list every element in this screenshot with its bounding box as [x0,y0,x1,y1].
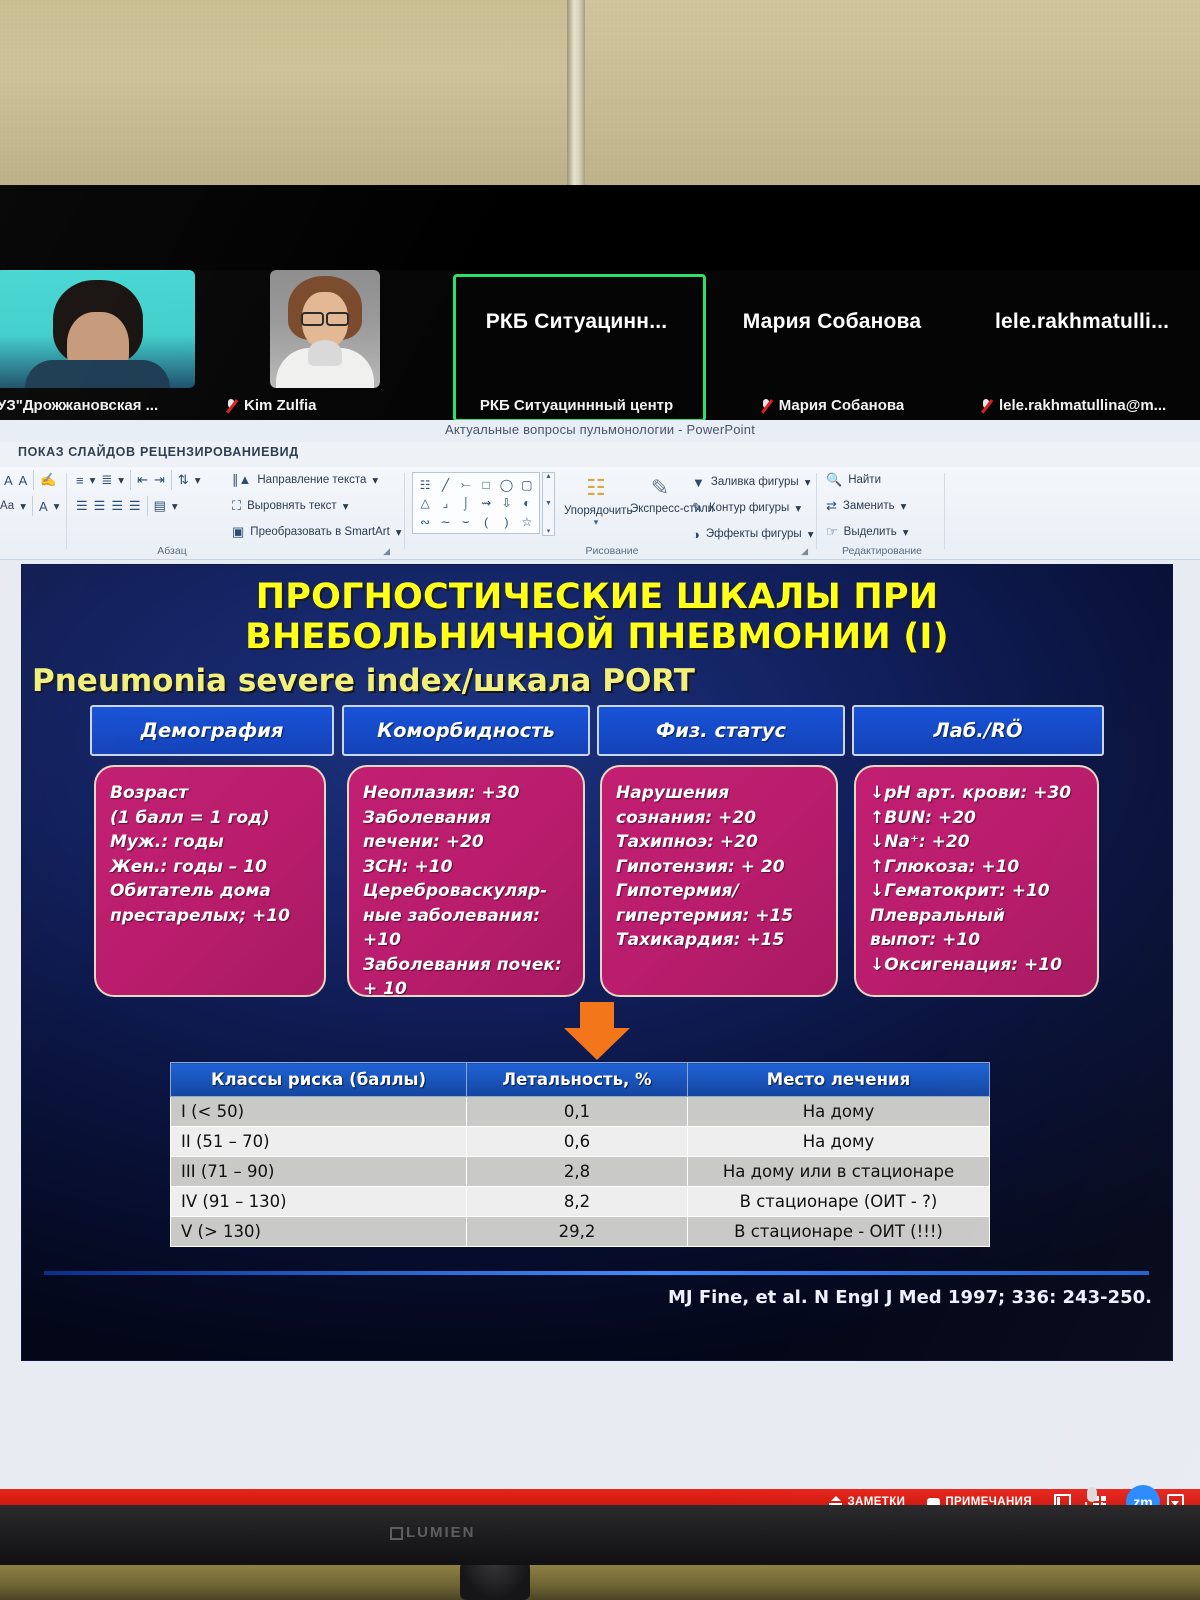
find-label[interactable]: Найти [848,474,881,486]
line-spacing-icon[interactable]: ⇅ [178,472,189,488]
star-shape-icon[interactable]: ☆ [517,512,537,531]
participant-name: lele.rakhmatullina@m... [999,397,1166,414]
align-left-icon[interactable]: ☰ [76,498,88,514]
desk-surface [0,1565,1200,1600]
align-text-label[interactable]: Выровнять текст [247,500,337,512]
table-row: I (< 50) 0,1 На дому [171,1097,990,1127]
cell-mortality: 29,2 [467,1217,688,1247]
char-spacing-icon[interactable]: Аа [0,500,14,512]
cell-mortality: 2,8 [467,1157,688,1187]
participant-tile[interactable]: УЗ"Дрожжановская ... [0,270,200,420]
participant-name: УЗ"Дрожжановская ... [0,397,158,414]
chevron-down-icon[interactable]: ▾ [564,517,628,528]
monitor-screen: УЗ"Дрожжановская ... Kim Zulfia РКБ Ситу… [0,185,1200,1515]
chevron-down-icon[interactable]: ▾ [172,499,178,513]
shape-outline-label[interactable]: Контур фигуры [709,502,789,514]
ribbon-group-font: A A ✍ Аа ▾ A ▾ [0,467,62,559]
monitor: УЗ"Дрожжановская ... Kim Zulfia РКБ Ситу… [0,185,1200,1515]
slide-subtitle: Pneumonia severe index/шкала PORT [32,663,695,699]
cell-treatment: На дому [688,1127,990,1157]
mic-muted-icon [980,398,993,413]
monitor-brand-logo: LUMIEN [390,1524,476,1541]
tab-view[interactable]: ВИД [270,445,299,459]
category-header-lab: Лаб./RÖ [852,705,1104,756]
oval-shape-icon[interactable]: ◯ [496,475,516,494]
increase-indent-icon[interactable]: ⇥ [154,472,165,488]
cell-risk-class: III (71 – 90) [171,1157,467,1187]
participant-tile[interactable]: lele.rakhmatulli... lele.rakhmatullina@m… [960,270,1200,420]
elbow-connector-icon[interactable]: ⌟ [435,494,455,512]
arrange-icon: ☷ [564,475,628,501]
find-icon: 🔍 [826,472,842,488]
ribbon-group-editing: 🔍 Найти ⇄ Заменить ▾ ☞ Выделить ▾ Редакт… [822,467,942,559]
convert-smartart-label[interactable]: Преобразовать в SmartArt [250,526,390,538]
freeform-shape-icon[interactable]: ∾ [415,512,435,531]
participant-name: РКБ Ситуациннный центр [480,397,673,414]
participant-display-name: lele.rakhmatulli... [995,310,1200,334]
ribbon-tab-bar: ПОКАЗ СЛАЙДОВ РЕЦЕНЗИРОВАНИЕ ВИД [0,442,1200,467]
participant-video [270,270,380,388]
dialog-launcher-icon[interactable]: ◢ [801,546,808,557]
mic-muted-icon [760,398,773,413]
table-row: V (> 130) 29,2 В стационаре - ОИТ (!!!) [171,1217,990,1247]
slide-title-line2: ВНЕБОЛЬНИЧНОЙ ПНЕВМОНИИ (I) [22,617,1172,657]
powerpoint-titlebar: Актуальные вопросы пульмонологии - Power… [0,420,1200,442]
ribbon: A A ✍ Аа ▾ A ▾ ≡ ▾ ≣ [0,467,1200,560]
chevron-down-icon[interactable]: ▾ [54,499,60,513]
participant-name-bar: Мария Собанова [707,393,957,417]
align-text-icon: ⛶ [232,498,241,514]
slide[interactable]: ПРОГНОСТИЧЕСКИЕ ШКАЛЫ ПРИ ВНЕБОЛЬНИЧНОЙ … [22,565,1172,1360]
category-header-physical: Физ. статус [597,705,845,756]
decrease-indent-icon[interactable]: ⇤ [137,472,148,488]
category-header-comorbidity: Коморбидность [342,705,590,756]
powerpoint-window: Актуальные вопросы пульмонологии - Power… [0,420,1200,1515]
rounded-rect-shape-icon[interactable]: ▢ [517,475,537,494]
tab-slideshow[interactable]: ПОКАЗ СЛАЙДОВ [18,445,136,459]
group-label-editing: Редактирование [822,545,942,557]
curve-shape-icon[interactable]: ∼ [435,512,455,531]
down-arrow-icon [564,1002,630,1060]
justify-icon[interactable]: ☰ [129,498,141,514]
text-direction-label[interactable]: Направление текста [257,474,366,486]
quick-styles-icon: ✎ [630,475,690,501]
chevron-down-icon[interactable]: ▾ [396,525,402,539]
group-label-drawing: Рисование [552,545,672,557]
participant-name-bar: lele.rakhmatullina@m... [980,393,1200,417]
smartart-icon: ▣ [232,524,244,540]
col-header-mortality: Летальность, % [467,1063,688,1097]
shape-effects-icon: ◑ [692,527,700,542]
slide-title-line1: ПРОГНОСТИЧЕСКИЕ ШКАЛЫ ПРИ [22,577,1172,617]
slide-canvas-area: ПРОГНОСТИЧЕСКИЕ ШКАЛЫ ПРИ ВНЕБОЛЬНИЧНОЙ … [0,560,1200,1515]
chevron-down-icon[interactable]: ▾ [372,473,378,487]
text-direction-icon: ∥▲ [232,472,251,488]
columns-icon[interactable]: ▤ [154,498,166,514]
criteria-box-comorbidity: Неоплазия: +30 Заболевания печени: +20 З… [347,765,585,997]
chevron-down-icon[interactable]: ▾ [795,501,801,515]
ribbon-group-drawing: ☷ ╱ ⤚ □ ◯ ▢ △ ⌟ ⌡ ⇝ ⇩ ◐ ∾ ∼ ⌣ ( ) [412,467,812,559]
participant-name: Мария Собанова [779,397,905,414]
cell-mortality: 8,2 [467,1187,688,1217]
cell-treatment: На дому или в стационаре [688,1157,990,1187]
chevron-down-icon[interactable]: ▾ [343,499,349,513]
ribbon-group-paragraph: ≡ ▾ ≣ ▾ ⇤ ⇥ ⇅ ▾ ☰ ☰ ☰ ☰ ▤ [72,467,402,559]
select-icon: ☞ [826,524,838,540]
shrink-font-icon[interactable]: A [19,473,28,488]
select-label[interactable]: Выделить [844,526,897,538]
participant-display-name: Мария Собанова [707,310,957,334]
wall-texture [0,0,1200,200]
curved-connector-icon[interactable]: ⌡ [456,494,476,512]
background-wall [0,0,1200,200]
mic-muted-icon [225,398,238,413]
gallery-more-icon[interactable]: ▾ [547,527,551,535]
chevron-down-icon[interactable]: ▾ [805,475,811,489]
numbered-list-icon[interactable]: ≣ [101,472,112,488]
left-brace-icon[interactable]: ( [476,512,496,531]
right-brace-icon[interactable]: ) [496,512,516,531]
col-header-risk-class: Классы риска (баллы) [171,1063,467,1097]
zoom-participant-strip: УЗ"Дрожжановская ... Kim Zulfia РКБ Ситу… [0,270,1200,420]
participant-display-name: РКБ Ситуацинн... [461,310,692,334]
shape-fill-label[interactable]: Заливка фигуры [711,476,799,488]
avatar [270,270,380,388]
scroll-down-icon[interactable]: ▼ [545,500,552,507]
chevron-down-icon[interactable]: ▾ [808,527,814,541]
pie-shape-icon[interactable]: ◐ [517,494,537,512]
replace-icon: ⇄ [826,498,837,514]
grow-font-icon[interactable]: A [4,473,13,488]
clear-formatting-icon[interactable]: ✍ [40,472,56,488]
col-header-treatment-site: Место лечения [688,1063,990,1097]
participant-video [0,270,195,388]
participant-name-bar: РКБ Ситуациннный центр [453,393,700,417]
criteria-box-demography: Возраст (1 балл = 1 год) Муж.: годы Жен.… [94,765,326,997]
cell-risk-class: IV (91 – 130) [171,1187,467,1217]
participant-tile[interactable]: Мария Собанова Мария Собанова [707,270,957,420]
avatar [0,270,195,388]
replace-label[interactable]: Заменить [843,500,895,512]
chevron-down-icon[interactable]: ▾ [901,499,907,513]
arrange-label: Упорядочить [564,505,628,517]
criteria-box-lab: ↓pH арт. крови: +30 ↑BUN: +20 ↓Na⁺: +20 … [854,765,1099,997]
participant-tile[interactable]: Kim Zulfia [270,270,470,420]
shape-fill-icon: ▼ [692,475,705,490]
table-row: II (51 – 70) 0,6 На дому [171,1127,990,1157]
chevron-down-icon[interactable]: ▾ [903,525,909,539]
textbox-shape-icon[interactable]: ☷ [415,475,435,494]
quick-styles-label: Экспресс-стили [630,503,690,515]
align-center-icon[interactable]: ☰ [94,498,106,514]
triangle-shape-icon[interactable]: △ [415,494,435,512]
cell-mortality: 0,6 [467,1127,688,1157]
category-header-demography: Демография [90,705,334,756]
cell-risk-class: V (> 130) [171,1217,467,1247]
cell-treatment: В стационаре (ОИТ - ?) [688,1187,990,1217]
shape-gallery[interactable]: ☷ ╱ ⤚ □ ◯ ▢ △ ⌟ ⌡ ⇝ ⇩ ◐ ∾ ∼ ⌣ ( ) [412,472,540,534]
brand-text: LUMIEN [406,1524,476,1541]
shape-outline-icon: ✎ [692,500,703,516]
arrow-shape-icon[interactable]: ⤚ [456,475,476,494]
scroll-up-icon[interactable]: ▲ [545,473,552,480]
chevron-down-icon[interactable]: ▾ [118,473,124,487]
chevron-down-icon[interactable]: ▾ [20,499,26,513]
tab-review[interactable]: РЕЦЕНЗИРОВАНИЕ [140,445,270,459]
slide-accent-line [44,1271,1149,1275]
line-shape-icon[interactable]: ╱ [435,475,455,494]
shape-gallery-scrollbar[interactable]: ▲ ▼ ▾ [542,472,555,536]
rectangle-shape-icon[interactable]: □ [476,475,496,494]
cell-risk-class: I (< 50) [171,1097,467,1127]
chevron-down-icon[interactable]: ▾ [90,473,96,487]
shape-effects-label[interactable]: Эффекты фигуры [706,528,802,540]
arc-shape-icon[interactable]: ⌣ [456,512,476,531]
font-color-icon[interactable]: A [39,499,48,514]
dialog-launcher-icon[interactable]: ◢ [383,546,390,557]
risk-class-table: Классы риска (баллы) Летальность, % Мест… [170,1062,990,1247]
participant-name-bar: Kim Zulfia [225,393,470,417]
cell-treatment: В стационаре - ОИТ (!!!) [688,1217,990,1247]
quick-styles-button[interactable]: ✎ Экспресс-стили [630,475,690,515]
cell-risk-class: II (51 – 70) [171,1127,467,1157]
right-arrow-shape-icon[interactable]: ⇝ [476,494,496,512]
window-title: Актуальные вопросы пульмонологии - Power… [0,422,1200,437]
table-header-row: Классы риска (баллы) Летальность, % Мест… [171,1063,990,1097]
slide-citation: MJ Fine, et al. N Engl J Med 1997; 336: … [668,1287,1152,1308]
table-row: III (71 – 90) 2,8 На дому или в стациона… [171,1157,990,1187]
table-row: IV (91 – 130) 8,2 В стационаре (ОИТ - ?) [171,1187,990,1217]
group-label-paragraph: Абзац [132,545,212,557]
cell-mortality: 0,1 [467,1097,688,1127]
participant-name-bar: УЗ"Дрожжановская ... [0,393,200,417]
cell-treatment: На дому [688,1097,990,1127]
participant-name: Kim Zulfia [244,397,317,414]
arrange-button[interactable]: ☷ Упорядочить ▾ [564,475,628,528]
align-right-icon[interactable]: ☰ [111,498,123,514]
down-arrow-shape-icon[interactable]: ⇩ [496,494,516,512]
chevron-down-icon[interactable]: ▾ [195,473,201,487]
criteria-box-physical: Нарушения сознания: +20 Тахипноэ: +20 Ги… [600,765,838,997]
bullet-list-icon[interactable]: ≡ [76,473,84,488]
participant-tile-active[interactable]: РКБ Ситуацинн... РКБ Ситуациннный центр [453,270,700,420]
monitor-bottom-bezel: LUMIEN [0,1505,1200,1565]
